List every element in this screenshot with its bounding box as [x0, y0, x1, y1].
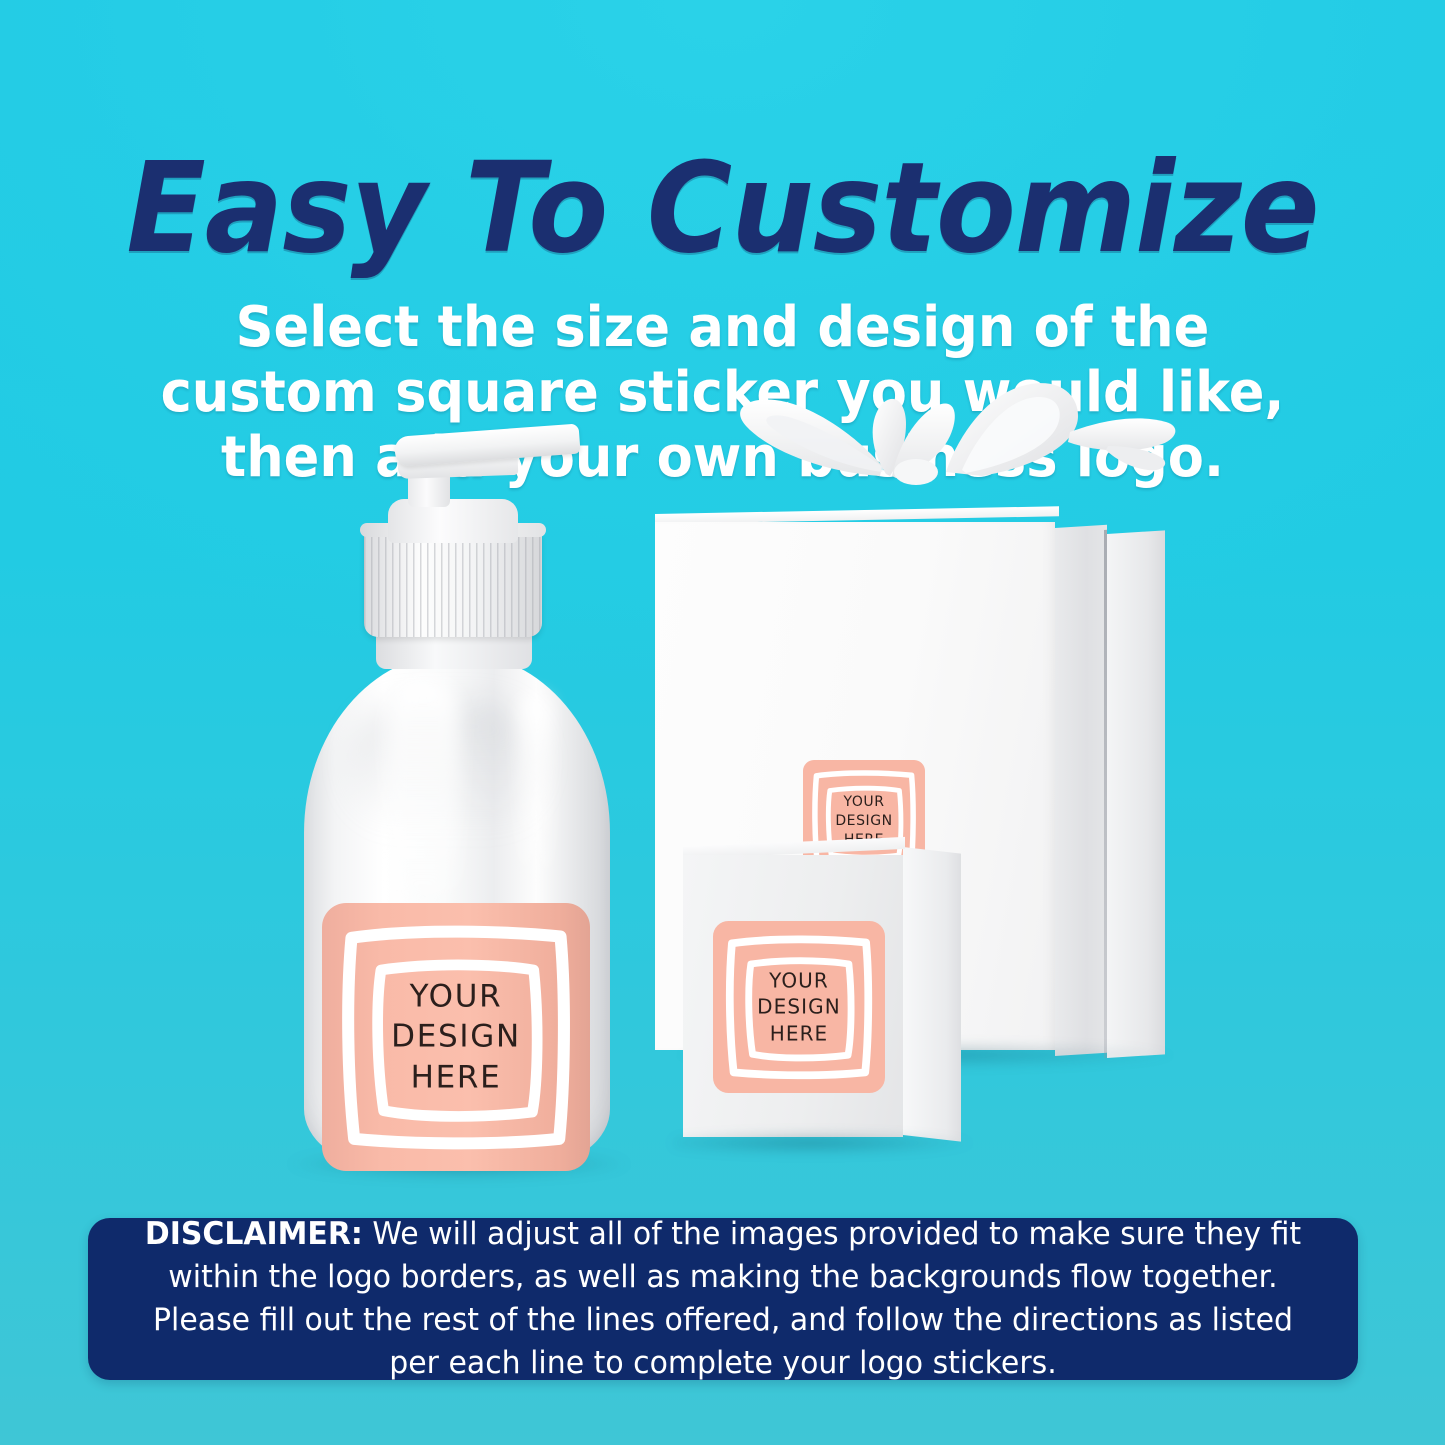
- sticker-text: YOUR DESIGN HERE: [322, 977, 590, 1098]
- gift-box-back-side-panel: [1107, 530, 1165, 1058]
- promo-banner: Easy To Customize Select the size and de…: [0, 0, 1445, 1445]
- bottle-highlight-secondary: [518, 693, 552, 883]
- small-box-side-panel: [903, 847, 961, 1142]
- gift-box-seam: [1104, 530, 1107, 1058]
- product-mockup-scene: YOUR DESIGN HERE YOUR DESIGN HERE: [0, 385, 1445, 1185]
- page-title: Easy To Customize: [51, 146, 1395, 271]
- bottle-highlight: [386, 677, 460, 907]
- gift-box-side-panel: [1055, 525, 1107, 1056]
- sticker-text: YOUR DESIGN HERE: [713, 967, 885, 1046]
- sticker-on-bottle[interactable]: YOUR DESIGN HERE: [322, 903, 590, 1171]
- pump-collar: [364, 527, 542, 637]
- disclaimer-prefix: DISCLAIMER:: [145, 1216, 363, 1252]
- small-box-shadow: [673, 1131, 973, 1155]
- pump-shoulder: [388, 499, 518, 543]
- ribbon-bow-icon: [710, 380, 1190, 490]
- product-box-small: YOUR DESIGN HERE: [683, 847, 973, 1147]
- disclaimer-banner: DISCLAIMER: We will adjust all of the im…: [88, 1218, 1358, 1380]
- bottle-neck: [376, 633, 532, 669]
- pump-bottle: YOUR DESIGN HERE: [290, 415, 640, 1175]
- sticker-on-small-box[interactable]: YOUR DESIGN HERE: [713, 921, 885, 1093]
